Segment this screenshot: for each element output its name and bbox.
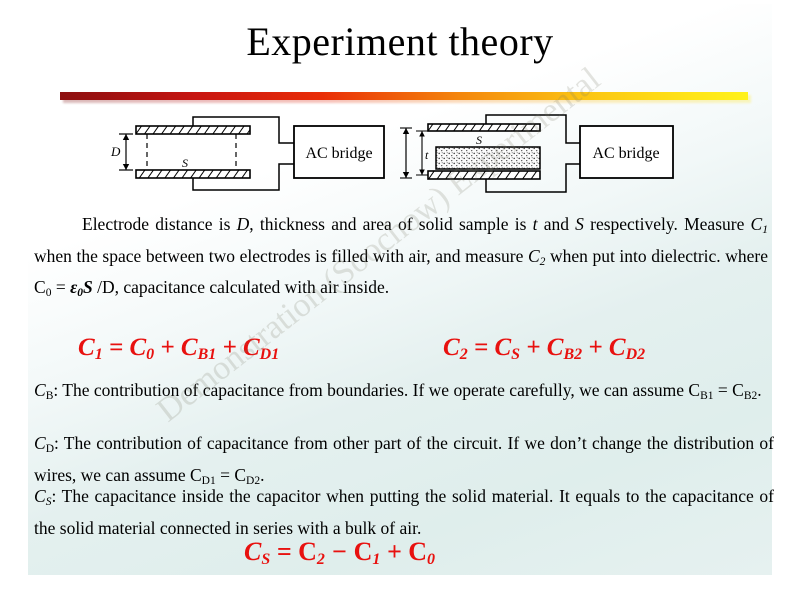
cb-sub2: B2: [744, 390, 757, 402]
eq-cs-lhs-sub: S: [261, 551, 270, 568]
ac-bridge-label-left: AC bridge: [305, 145, 372, 162]
eq-c2-equals: =: [468, 334, 495, 361]
title-accent-rule-bar: [60, 92, 748, 100]
eq-c1-equals: =: [103, 334, 130, 361]
eq-c2-op2: +: [582, 334, 609, 361]
page-title: Experiment theory: [0, 18, 800, 66]
air-gap-capacitor-diagram: D S AC bridge: [108, 112, 390, 209]
ac-bridge-label-right: AC bridge: [592, 145, 659, 162]
cd-text-b: = C: [216, 465, 246, 485]
symbol-D: D: [237, 214, 250, 234]
symbol-C1: C: [751, 214, 763, 234]
eq-cs-lhs: C: [244, 537, 261, 566]
eq-c1-op2: +: [216, 334, 243, 361]
eq-cs-t2: C: [354, 537, 373, 566]
symbol-C2: C: [528, 246, 540, 266]
equation-c1: C1 = C0 + CB1 + CD1: [78, 333, 279, 370]
cb-text-c: .: [757, 380, 761, 400]
eq-c2-op1: +: [520, 334, 547, 361]
eq-c2-lhs-sub: 2: [460, 346, 468, 363]
eq-cs-t1: C: [298, 537, 317, 566]
title-accent-rule: [60, 92, 748, 101]
cb-sub1: B1: [700, 390, 713, 402]
intro-text-d: respectively. Measure: [584, 214, 751, 234]
dielectric-sample-capacitor-diagram: t S AC bridge: [398, 112, 688, 209]
cd-text-c: .: [260, 465, 264, 485]
intro-text-e: when the space between two electrodes is…: [34, 246, 528, 266]
eq-c1-t3-sub: D1: [260, 346, 280, 363]
equation-c2: C2 = CS + CB2 + CD2: [443, 333, 645, 370]
symbol-S: S: [575, 214, 584, 234]
eq-cs-op2: +: [380, 537, 408, 566]
intro-text-a: Electrode distance is: [82, 214, 237, 234]
eq-c1-t2: C: [181, 334, 198, 361]
symbol-C1-sub: 1: [762, 224, 768, 236]
area-label-s: S: [182, 156, 188, 170]
symbol-CD: C: [34, 433, 46, 453]
eq-c1-t3: C: [243, 334, 260, 361]
symbol-CS: C: [34, 486, 46, 506]
eq-cs-t3-sub: 0: [427, 551, 435, 568]
eq-c2-t3-sub: D2: [626, 346, 646, 363]
intro-text-b: , thickness and area of solid sample is: [249, 214, 532, 234]
eq-cs-t1-sub: 2: [317, 551, 325, 568]
eq-c1-t2-sub: B1: [198, 346, 217, 363]
cs-definition-paragraph: CS: The capacitance inside the capacitor…: [34, 484, 774, 541]
intro-paragraph: Electrode distance is D, thickness and a…: [34, 212, 768, 307]
thickness-label-t: t: [425, 148, 429, 162]
eq-c2-t2-sub: B2: [563, 346, 582, 363]
slide: Experiment theory: [0, 0, 800, 600]
symbol-CD-sub: D: [46, 443, 54, 455]
cd-text-a: : The contribution of capacitance from o…: [34, 433, 774, 485]
intro-text-h: /D, capacitance calculated with air insi…: [93, 277, 389, 297]
eq-cs-t3: C: [408, 537, 427, 566]
eq-c1-lhs-sub: 1: [95, 346, 103, 363]
cb-definition-paragraph: CB: The contribution of capacitance from…: [34, 378, 774, 410]
eq-c1-op1: +: [154, 334, 181, 361]
eq-c1-t1: C: [129, 334, 146, 361]
equation-cs: CS = C2 − C1 + C0: [244, 537, 435, 575]
cs-text-a: : The capacitance inside the capacitor w…: [34, 486, 774, 538]
eq-c2-t3: C: [609, 334, 626, 361]
symbol-S-bold: S: [83, 277, 93, 297]
intro-text-g: =: [51, 277, 70, 297]
eq-cs-equals: =: [270, 537, 298, 566]
cb-text-b: = C: [714, 380, 744, 400]
cb-text-a: : The contribution of capacitance from b…: [53, 380, 700, 400]
eq-c2-t2: C: [547, 334, 564, 361]
intro-text-c: and: [538, 214, 576, 234]
figure-group: D S AC bridge: [108, 112, 708, 204]
symbol-CB: C: [34, 380, 46, 400]
eq-c2-t1: C: [494, 334, 511, 361]
eq-c2-t1-sub: S: [511, 346, 520, 363]
eq-cs-op1: −: [325, 537, 354, 566]
dimension-label-d: D: [110, 144, 121, 159]
eq-c1-lhs: C: [78, 334, 95, 361]
area-label-s-right: S: [476, 133, 482, 147]
eq-c1-t1-sub: 0: [146, 346, 154, 363]
eq-c2-lhs: C: [443, 334, 460, 361]
